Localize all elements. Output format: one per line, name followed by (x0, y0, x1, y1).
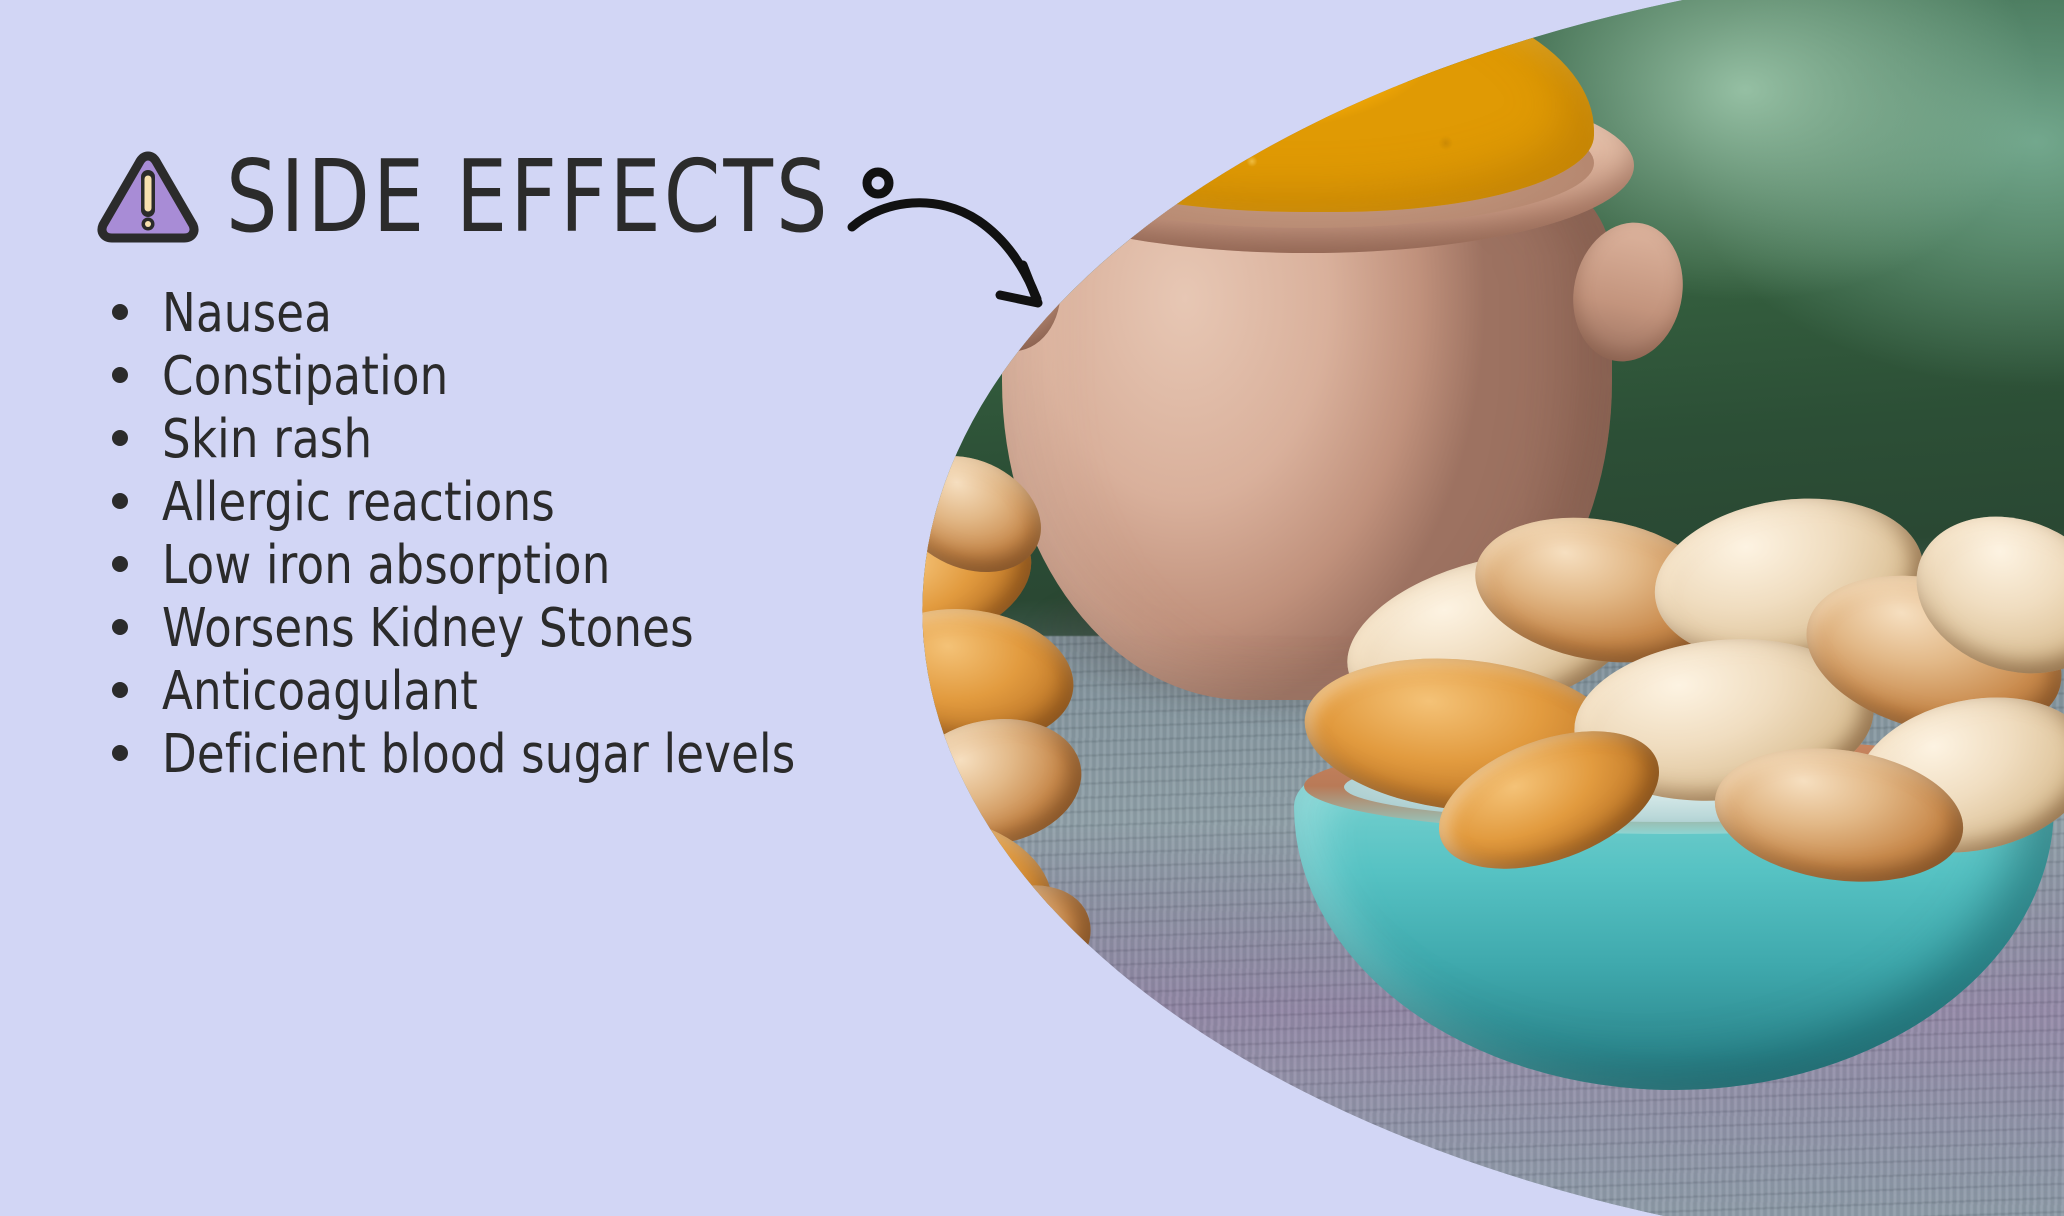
bullet-dot-icon (112, 304, 128, 320)
list-item-label: Nausea (162, 278, 332, 350)
curved-arrow-icon (840, 155, 1090, 319)
photo-ellipse-clip (884, 0, 2064, 1216)
list-item: Nausea (112, 282, 822, 345)
poster-canvas: SIDE EFFECTS Nausea Constipation Skin ra… (0, 0, 2064, 1216)
bullet-dot-icon (112, 619, 128, 635)
list-item: Worsens Kidney Stones (112, 597, 822, 660)
page-title: SIDE EFFECTS (226, 148, 831, 248)
side-effects-list: Nausea Constipation Skin rash Allergic r… (112, 282, 822, 786)
bullet-dot-icon (112, 367, 128, 383)
list-item: Anticoagulant (112, 660, 822, 723)
heading-row: SIDE EFFECTS (96, 148, 837, 248)
list-item-label: Deficient blood sugar levels (162, 719, 795, 791)
content-panel: SIDE EFFECTS Nausea Constipation Skin ra… (0, 0, 1060, 1216)
bullet-dot-icon (112, 682, 128, 698)
list-item: Deficient blood sugar levels (112, 723, 822, 786)
list-item-label: Skin rash (162, 404, 372, 476)
list-item: Constipation (112, 345, 822, 408)
list-item-label: Anticoagulant (162, 656, 478, 728)
list-item-label: Low iron absorption (162, 530, 611, 602)
list-item-label: Allergic reactions (162, 467, 555, 539)
bullet-dot-icon (112, 493, 128, 509)
warning-triangle-icon (96, 148, 200, 248)
turmeric-powder-mound (1024, 0, 1594, 212)
list-item-label: Worsens Kidney Stones (162, 593, 694, 665)
list-item-label: Constipation (162, 341, 448, 413)
list-item: Allergic reactions (112, 471, 822, 534)
bullet-dot-icon (112, 430, 128, 446)
list-item: Low iron absorption (112, 534, 822, 597)
powder-texture (1024, 0, 1594, 212)
bullet-dot-icon (112, 556, 128, 572)
bullet-dot-icon (112, 745, 128, 761)
list-item: Skin rash (112, 408, 822, 471)
turmeric-photo (884, 0, 2064, 1216)
photo-background-foliage (884, 0, 2064, 1216)
